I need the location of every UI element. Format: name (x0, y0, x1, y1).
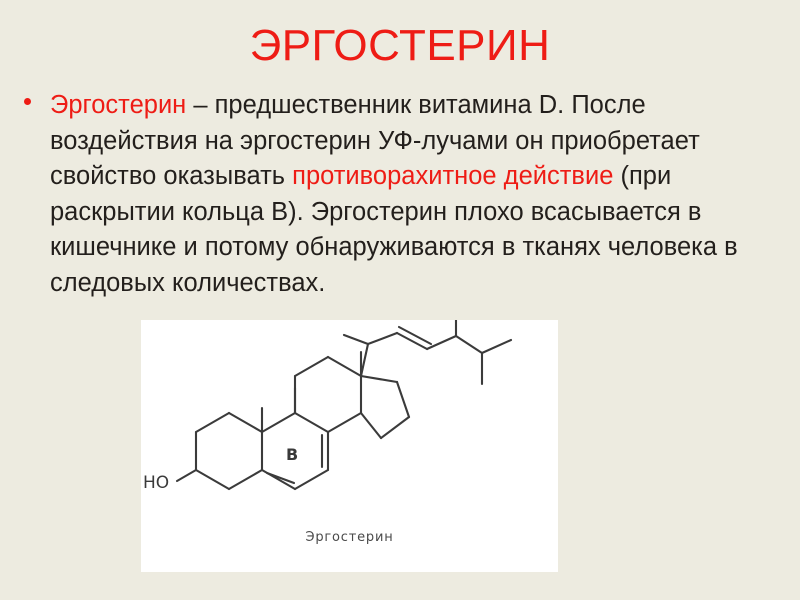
figure-caption: Эргостерин (305, 530, 393, 545)
bullet-dot-icon (24, 98, 31, 105)
term-antirachitic-action: противорахитное действие (292, 162, 613, 190)
term-ergosterol: Эргостерин (50, 91, 186, 119)
structure-figure-panel: HO B Эргостерин (141, 320, 558, 572)
ring-b-label: B (286, 445, 298, 464)
bullet-item: Эргостерин – предшественник витамина D. … (18, 88, 782, 301)
hydroxyl-label: HO (143, 473, 169, 493)
page-title: ЭРГОСТЕРИН (0, 20, 800, 72)
bullet-paragraph: Эргостерин – предшественник витамина D. … (50, 88, 782, 301)
content-body: Эргостерин – предшественник витамина D. … (18, 88, 782, 301)
figure-caption-row: Эргостерин (141, 528, 558, 546)
